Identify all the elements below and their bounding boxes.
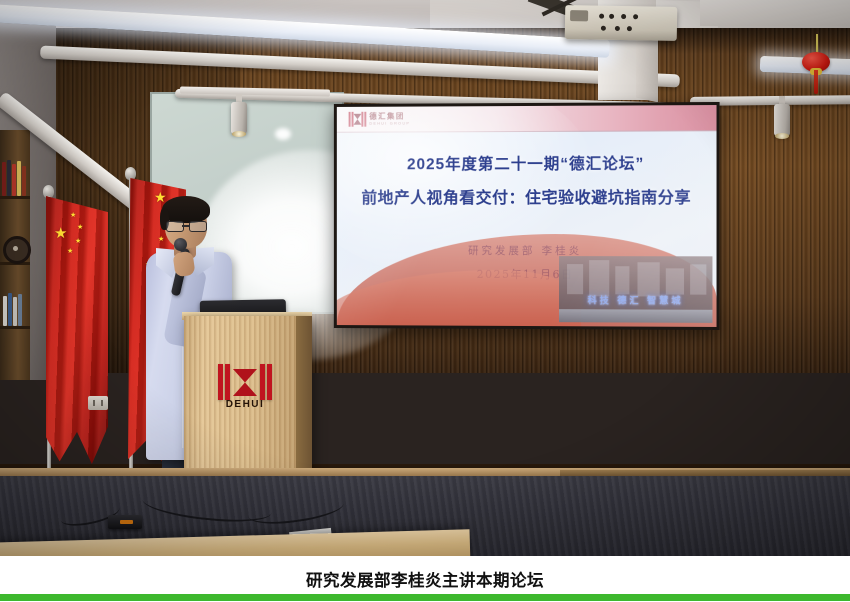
projected-slide: 德汇集团 DEHUI GROUP 2025年度第二十一期“德汇论坛” 前地产人视… — [337, 105, 717, 327]
ceiling-soffit-right — [700, 0, 850, 26]
book — [18, 294, 22, 326]
projector-vent — [570, 10, 588, 21]
book — [2, 162, 6, 196]
flag-star: ★ — [70, 212, 76, 219]
flag-star: ★ — [158, 236, 164, 243]
forum-photograph: 德汇集团 DEHUI GROUP 2025年度第二十一期“德汇论坛” 前地产人视… — [0, 0, 850, 556]
bookshelf-shelf — [0, 326, 30, 329]
track-spotlight — [231, 102, 247, 134]
track-spotlight — [774, 104, 790, 136]
book — [12, 164, 16, 196]
ceiling-duct-bracket — [636, 34, 658, 103]
projector-port — [599, 14, 604, 19]
flag-star: ★ — [77, 224, 83, 231]
ceiling-projector — [565, 5, 678, 41]
eyeglasses-bridge — [182, 225, 189, 227]
screenshot-root: 德汇集团 DEHUI GROUP 2025年度第二十一期“德汇论坛” 前地产人视… — [0, 0, 850, 602]
projector-port — [609, 14, 614, 19]
speaker-hair — [162, 196, 210, 223]
book — [7, 160, 11, 196]
book — [8, 293, 12, 326]
book — [17, 161, 21, 196]
screen-sheen — [337, 105, 717, 327]
microphone-head — [174, 238, 187, 251]
chinese-national-flag: ★ ★ ★ ★ ★ — [46, 196, 108, 464]
bookshelf-shelf — [0, 196, 30, 199]
flag-star: ★ — [67, 248, 73, 255]
book — [13, 297, 17, 326]
eyeglasses-lens-right — [189, 221, 207, 232]
projection-screen: 德汇集团 DEHUI GROUP 2025年度第二十一期“德汇论坛” 前地产人视… — [334, 102, 720, 330]
projector-port — [627, 26, 632, 31]
podium-dehui-logo: DEHUI — [218, 364, 272, 408]
light-reflection-spot — [275, 128, 291, 140]
podium-logo-text: DEHUI — [218, 399, 272, 410]
flag-star: ★ — [75, 238, 81, 245]
floor-cable-junction-box — [108, 515, 142, 529]
projector-port — [615, 26, 620, 31]
book — [3, 296, 7, 326]
green-accent-bar — [0, 594, 850, 601]
wall-clock — [3, 236, 31, 264]
projector-port — [621, 14, 626, 19]
wall-power-outlet — [88, 396, 108, 410]
projector-port — [601, 26, 606, 31]
lantern-tassel — [814, 70, 818, 94]
projector-port — [633, 14, 638, 19]
book — [22, 166, 26, 196]
speaker-hand — [172, 251, 195, 278]
lantern-cord — [816, 34, 818, 54]
flag-star: ★ — [54, 226, 67, 241]
caption-text: 研究发展部李桂炎主讲本期论坛 — [306, 567, 544, 591]
